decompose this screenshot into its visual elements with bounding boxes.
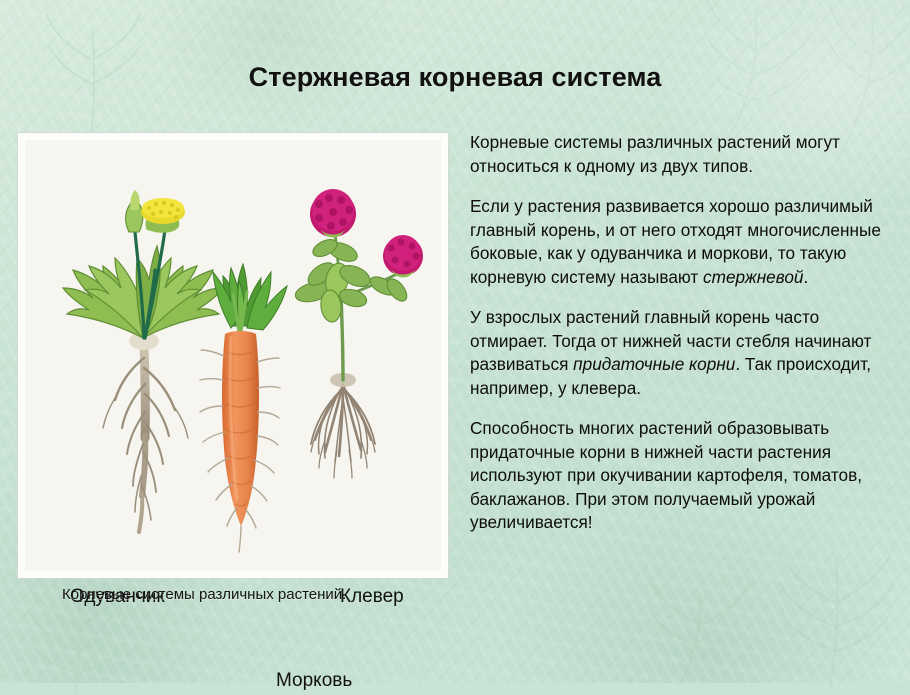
body-paragraph-3: У взрослых растений главный корень часто… xyxy=(470,306,898,400)
slide-title: Стержневая корневая система xyxy=(0,62,910,93)
figure-caption: Корневые системы различных растений. xyxy=(62,586,346,603)
body-paragraph-4: Способность многих растений образовывать… xyxy=(470,417,898,535)
body-text-column: Корневые системы различных растений могу… xyxy=(470,131,898,535)
plant-root-diagram xyxy=(25,140,441,571)
clover-flower-right xyxy=(383,235,423,278)
body-paragraph-1: Корневые системы различных растений могу… xyxy=(470,131,898,178)
label-clover: Клевер xyxy=(340,586,404,608)
label-carrot: Морковь xyxy=(276,670,352,692)
emphasized-term: придаточные корни xyxy=(573,354,735,374)
carrot-illustration xyxy=(200,264,287,552)
illustration-panel: Одуванчик Клевер Морковь xyxy=(18,133,448,578)
emphasized-term: стержневой xyxy=(703,267,803,287)
watermark-leaves-bottomright xyxy=(640,545,910,690)
clover-flower-top xyxy=(310,189,356,238)
dandelion-illustration xyxy=(63,190,223,532)
dandelion-bud xyxy=(126,190,143,232)
dandelion-flower xyxy=(141,198,185,233)
clover-illustration xyxy=(293,189,423,478)
slide-background: Стержневая корневая система xyxy=(0,0,910,683)
body-paragraph-2: Если у растения развивается хорошо разли… xyxy=(470,195,898,289)
